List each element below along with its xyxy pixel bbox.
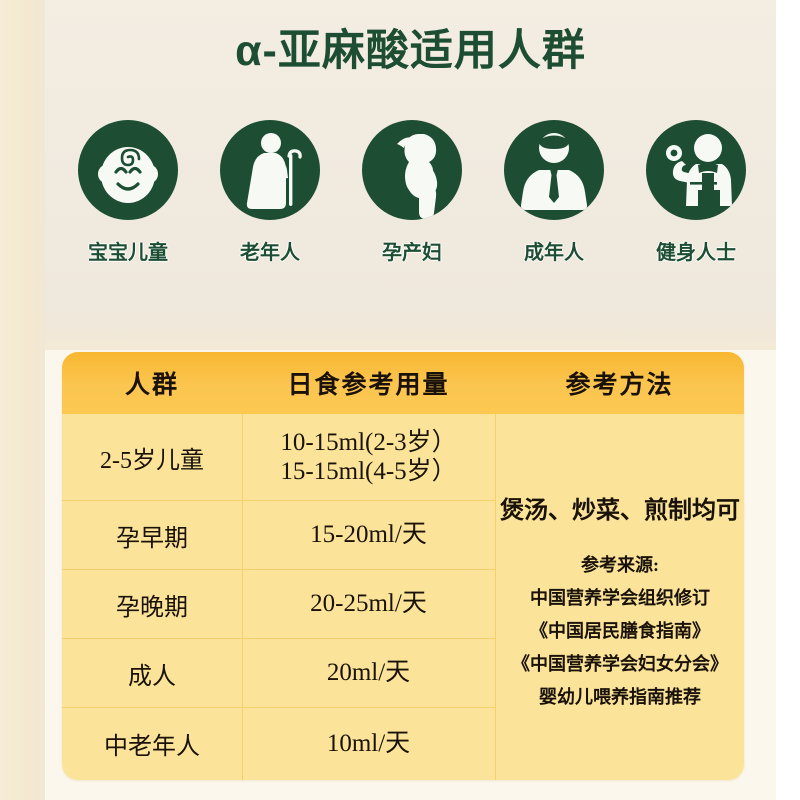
table-row[interactable]: 孕晚期 20-25ml/天 [62,569,495,638]
audience-item-pregnant[interactable]: 孕产妇 [351,120,473,265]
audience-item-label: 孕产妇 [382,236,442,265]
cell-dosage: 20ml/天 [242,639,495,707]
elderly-with-cane-icon [220,120,320,220]
column-divider [242,414,243,780]
cell-dosage-line: 10ml/天 [327,729,410,759]
cell-method: 煲汤、炒菜、煎制均可 参考来源: 中国营养学会组织修订 《中国居民膳食指南》 《… [496,414,744,780]
method-source-line: 《中国居民膳食指南》 [530,617,710,643]
method-main-text: 煲汤、炒菜、煎制均可 [500,490,740,525]
fitness-person-dumbbell-icon [646,120,746,220]
table-rows-left: 2-5岁儿童 10-15ml(2-3岁） 15-15ml(4-5岁） 孕早期 1… [62,414,495,779]
cell-group: 成人 [62,639,242,707]
audience-item-fitness[interactable]: 健身人士 [635,120,757,265]
cell-dosage-line: 10-15ml(2-3岁） [280,428,456,458]
cell-dosage: 10ml/天 [242,708,495,779]
hero-card: α-亚麻酸适用人群 [45,0,776,350]
audience-item-baby[interactable]: 宝宝儿童 [67,120,189,265]
column-header-group: 人群 [62,352,242,414]
table-row[interactable]: 2-5岁儿童 10-15ml(2-3岁） 15-15ml(4-5岁） [62,414,495,500]
audience-item-adult[interactable]: 成年人 [493,120,615,265]
audience-item-label: 成年人 [524,236,584,265]
cell-dosage: 10-15ml(2-3岁） 15-15ml(4-5岁） [242,414,495,500]
audience-icon-row: 宝宝儿童 老年人 [67,120,757,265]
cell-dosage: 15-20ml/天 [242,501,495,569]
dosage-table: 人群 日食参考用量 参考方法 2-5岁儿童 10-15ml(2-3岁） 15-1… [62,352,744,780]
cell-dosage: 20-25ml/天 [242,570,495,638]
table-body: 2-5岁儿童 10-15ml(2-3岁） 15-15ml(4-5岁） 孕早期 1… [62,414,744,780]
method-source-line: 婴幼儿喂养指南推荐 [539,683,701,709]
cell-dosage-line: 20ml/天 [327,658,410,688]
method-source-title: 参考来源: [581,551,659,577]
cell-group: 孕早期 [62,501,242,569]
table-row[interactable]: 中老年人 10ml/天 [62,707,495,779]
audience-item-elderly[interactable]: 老年人 [209,120,331,265]
cell-dosage-line: 20-25ml/天 [310,589,427,619]
pregnant-woman-icon [362,120,462,220]
table-header-row: 人群 日食参考用量 参考方法 [62,352,744,414]
adult-with-necktie-icon [504,120,604,220]
cell-group: 孕晚期 [62,570,242,638]
page-title: α-亚麻酸适用人群 [45,16,776,78]
audience-item-label: 宝宝儿童 [88,236,168,265]
audience-item-label: 老年人 [240,236,300,265]
audience-item-label: 健身人士 [656,236,736,265]
cell-dosage-line: 15-15ml(4-5岁） [280,457,456,487]
cell-group: 中老年人 [62,708,242,779]
table-row[interactable]: 成人 20ml/天 [62,638,495,707]
right-decorative-band [776,0,800,800]
column-header-dosage: 日食参考用量 [242,352,495,414]
cell-dosage-line: 15-20ml/天 [310,520,427,550]
method-source-line: 中国营养学会组织修订 [530,584,710,610]
baby-face-icon [78,120,178,220]
page-background: α-亚麻酸适用人群 [0,0,800,800]
column-header-method: 参考方法 [495,352,744,414]
cell-group: 2-5岁儿童 [62,414,242,500]
left-decorative-band [0,0,45,800]
table-row[interactable]: 孕早期 15-20ml/天 [62,500,495,569]
method-source-line: 《中国营养学会妇女分会》 [512,650,728,676]
